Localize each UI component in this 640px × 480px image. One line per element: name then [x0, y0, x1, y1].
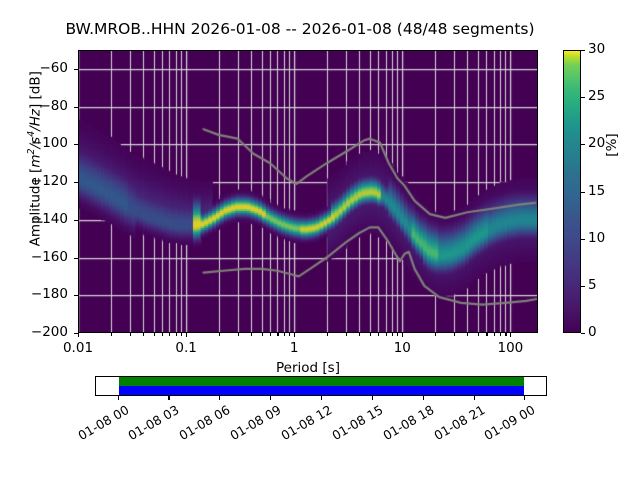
colorbar-tick-label: 10	[588, 230, 605, 246]
x-tick-minor	[500, 333, 501, 336]
colorbar-tick	[581, 144, 585, 145]
colorbar-tick	[581, 239, 585, 240]
x-tick-label: 0.01	[63, 340, 93, 356]
noise-model-curves	[78, 50, 538, 333]
x-tick-minor	[176, 333, 177, 336]
colorbar-tick-label: 15	[588, 183, 605, 199]
timeline-tick-label: 01-08 03	[121, 402, 182, 446]
x-tick-minor	[327, 333, 328, 336]
y-tick-label: −80	[40, 98, 69, 114]
colorbar-tick-label: 20	[588, 135, 605, 151]
timeline-tick	[321, 396, 322, 400]
x-tick-label: 0.1	[175, 340, 196, 356]
y-tick	[74, 144, 78, 145]
x-tick-label: 10	[394, 340, 411, 356]
x-tick-major	[510, 333, 511, 337]
x-tick-minor	[154, 333, 155, 336]
y-tick	[74, 295, 78, 296]
x-tick-minor	[270, 333, 271, 336]
colorbar-tick-label: 5	[588, 277, 597, 293]
timeline-tick-label: 01-08 21	[426, 402, 487, 446]
y-tick	[74, 69, 78, 70]
timeline-tick	[372, 396, 373, 400]
x-tick-minor	[467, 333, 468, 336]
coverage-timeline[interactable]	[95, 376, 547, 396]
x-tick-minor	[454, 333, 455, 336]
timeline-tick	[423, 396, 424, 400]
x-tick-minor	[392, 333, 393, 336]
x-tick-major	[294, 333, 295, 337]
timeline-tick-label: 01-08 12	[273, 402, 334, 446]
x-tick-minor	[346, 333, 347, 336]
colorbar	[563, 50, 581, 333]
x-tick-minor	[284, 333, 285, 336]
y-tick	[74, 107, 78, 108]
timeline-tick-label: 01-08 00	[70, 402, 131, 446]
x-tick-minor	[169, 333, 170, 336]
ppsd-figure: BW.MROB..HHN 2026-01-08 -- 2026-01-08 (4…	[0, 0, 640, 480]
x-tick-label: 100	[498, 340, 524, 356]
x-tick-minor	[386, 333, 387, 336]
timeline-tick	[168, 396, 169, 400]
timeline-tick	[118, 396, 119, 400]
coverage-bar-green	[119, 377, 524, 386]
y-tick-label: −200	[31, 324, 68, 340]
x-tick-minor	[130, 333, 131, 336]
x-tick-minor	[378, 333, 379, 336]
x-tick-minor	[181, 333, 182, 336]
x-tick-minor	[111, 333, 112, 336]
x-tick-major	[78, 333, 79, 337]
timeline-tick-label: 01-08 15	[324, 402, 385, 446]
y-tick-label: −60	[40, 60, 69, 76]
timeline-tick-label: 01-08 06	[172, 402, 233, 446]
y-axis-label: Amplitude [m2/s4/Hz] [dB]	[25, 29, 43, 289]
x-tick-minor	[219, 333, 220, 336]
x-tick-major	[402, 333, 403, 337]
colorbar-tick	[581, 192, 585, 193]
colorbar-tick	[581, 97, 585, 98]
x-tick-major	[186, 333, 187, 337]
x-tick-minor	[262, 333, 263, 336]
x-tick-minor	[289, 333, 290, 336]
timeline-tick-label: 01-08 18	[375, 402, 436, 446]
x-tick-minor	[143, 333, 144, 336]
colorbar-tick-label: 25	[588, 88, 605, 104]
x-tick-minor	[359, 333, 360, 336]
y-tick	[74, 220, 78, 221]
colorbar-tick-label: 30	[588, 41, 605, 57]
coverage-bar-blue	[119, 386, 524, 395]
y-tick	[74, 182, 78, 183]
colorbar-tick	[581, 286, 585, 287]
x-tick-minor	[478, 333, 479, 336]
timeline-tick-label: 01-09 00	[477, 402, 538, 446]
x-tick-minor	[435, 333, 436, 336]
colorbar-tick-label: 0	[588, 324, 597, 340]
x-tick-minor	[505, 333, 506, 336]
colorbar-label: [%]	[604, 115, 620, 175]
colorbar-tick	[581, 333, 585, 334]
timeline-tick	[524, 396, 525, 400]
timeline-tick	[270, 396, 271, 400]
y-tick	[74, 258, 78, 259]
y-axis-label-text: Amplitude [m2/s4/Hz] [dB]	[27, 71, 43, 246]
timeline-tick	[474, 396, 475, 400]
x-tick-minor	[251, 333, 252, 336]
timeline-tick-label: 01-08 09	[222, 402, 283, 446]
figure-title: BW.MROB..HHN 2026-01-08 -- 2026-01-08 (4…	[0, 20, 600, 38]
x-tick-minor	[397, 333, 398, 336]
x-tick-minor	[486, 333, 487, 336]
x-tick-minor	[277, 333, 278, 336]
x-tick-minor	[238, 333, 239, 336]
colorbar-tick	[581, 50, 585, 51]
x-tick-minor	[162, 333, 163, 336]
x-tick-minor	[494, 333, 495, 336]
timeline-tick	[219, 396, 220, 400]
x-axis-label: Period [s]	[78, 360, 538, 376]
ppsd-plot-area	[78, 50, 538, 333]
x-tick-minor	[370, 333, 371, 336]
x-tick-label: 1	[290, 340, 299, 356]
